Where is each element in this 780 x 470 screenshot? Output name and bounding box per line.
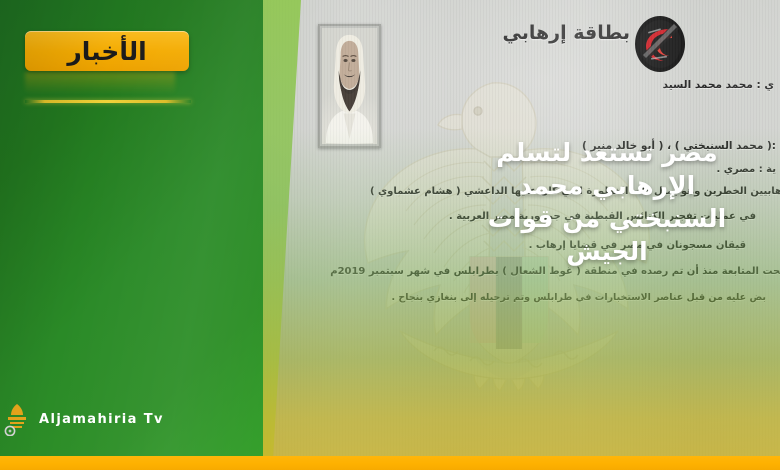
card-note-arrest: بض عليه من قبل عناصر الاستخبارات في طراب…: [391, 292, 766, 303]
terrorist-id-card-photo: بطاقة إرهابي ي : محمد محمد السيد :( محمد…: [255, 0, 780, 458]
mugshot-frame: [318, 24, 381, 148]
news-panel: الأخبار Aljamahiria: [0, 0, 263, 458]
card-note-danger: هابيين الخطرين وهو يمثل ذات الخطورة التي…: [370, 186, 780, 197]
card-title: بطاقة إرهابي: [503, 22, 630, 44]
card-field-nationality: ية : مصري .: [717, 164, 777, 175]
bottom-accent-bar: [0, 456, 780, 470]
channel-logo: Aljamahiria Tv: [2, 402, 164, 436]
news-category-badge: الأخبار: [25, 31, 189, 71]
card-note-surveillance: تحت المتابعة منذ أن تم رصده في منطقة ( غ…: [330, 266, 780, 277]
card-field-aliases: :( محمد السنبختي ) ، ( أبو خالد منير ): [582, 140, 776, 152]
no-terrorism-prohibition-icon: [634, 15, 686, 73]
suspect-portrait-photo: [322, 28, 377, 144]
news-thumbnail-graphic: بطاقة إرهابي ي : محمد محمد السيد :( محمد…: [0, 0, 780, 470]
badge-reflection: [25, 72, 175, 94]
aljamahiria-emblem-icon: [2, 402, 32, 436]
card-note-brothers: قيقان مسجونان في مصر في قضايا إرهاب .: [529, 240, 746, 251]
card-field-name: ي : محمد محمد السيد: [663, 79, 774, 91]
gold-divider-rule: [25, 100, 191, 103]
channel-name-label: Aljamahiria Tv: [39, 412, 164, 427]
card-note-operations: في عمليات تفجير الكنائس القبطية في جمهور…: [449, 211, 756, 222]
news-badge-label: الأخبار: [67, 39, 146, 64]
